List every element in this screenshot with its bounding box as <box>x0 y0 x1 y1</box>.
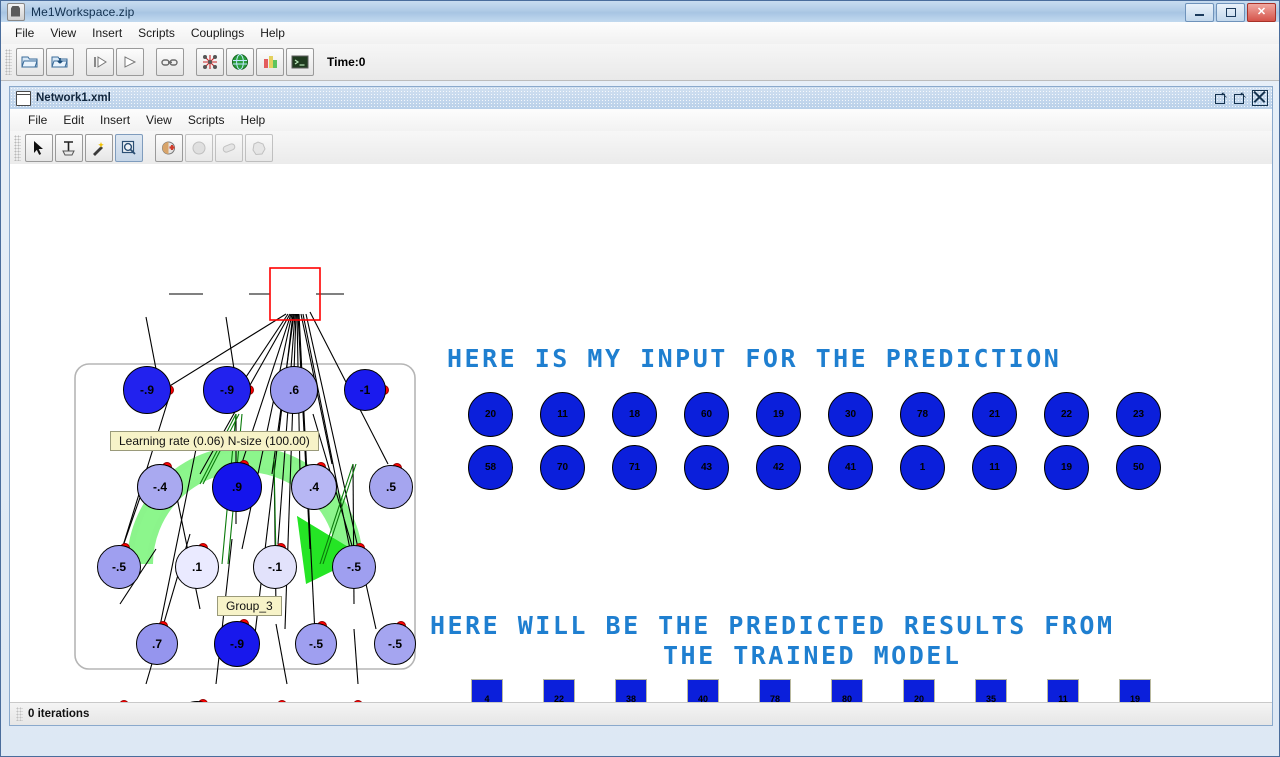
input-node-1[interactable]: 11 <box>540 392 585 437</box>
neuron-label: .7 <box>152 637 162 651</box>
neuron-label: -.9 <box>220 383 234 397</box>
selection-rectangle <box>270 268 320 320</box>
application-window: Me1Workspace.zip ✕ File View Insert Scri… <box>0 0 1280 757</box>
add-neuron-icon[interactable] <box>155 134 183 162</box>
input-node-3[interactable]: 60 <box>684 392 729 437</box>
input-row-2: 5870714342411111950 <box>468 445 1188 490</box>
neuron-layer4-1[interactable]: -.9 <box>214 621 260 667</box>
text-tool-icon[interactable] <box>55 134 83 162</box>
predicted-node-9[interactable]: 19 <box>1119 679 1151 703</box>
run-icon[interactable] <box>116 48 144 76</box>
inner-menu-item-help[interactable]: Help <box>233 111 274 129</box>
iterations-status: 0 iterations <box>28 708 89 720</box>
predicted-node-5[interactable]: 80 <box>831 679 863 703</box>
menu-item-scripts[interactable]: Scripts <box>130 24 183 42</box>
neuron-layer4-2[interactable]: -.5 <box>295 623 337 665</box>
predicted-node-8[interactable]: 11 <box>1047 679 1079 703</box>
network-icon[interactable] <box>196 48 224 76</box>
restore-button[interactable]: ↖ <box>1214 91 1228 105</box>
neuron-label: -.5 <box>388 637 402 651</box>
main-toolbar: Time:0 <box>1 44 1279 81</box>
document-window-icon <box>16 91 31 106</box>
input-heading: HERE IS MY INPUT FOR THE PREDICTION <box>447 344 1061 373</box>
inner-menu-item-insert[interactable]: Insert <box>92 111 138 129</box>
learning-rate-tooltip: Learning rate (0.06) N-size (100.00) <box>110 431 319 451</box>
group-tooltip: Group_3 <box>217 596 282 616</box>
input-node-b-3[interactable]: 43 <box>684 445 729 490</box>
inner-toolbar-grip[interactable] <box>14 135 21 161</box>
neuron-label: -.9 <box>140 383 154 397</box>
inner-menu-item-edit[interactable]: Edit <box>55 111 92 129</box>
predicted-node-4[interactable]: 78 <box>759 679 791 703</box>
internal-frame-title-bar[interactable]: Network1.xml ↖ ↖ <box>10 87 1272 110</box>
menu-item-couplings[interactable]: Couplings <box>183 24 252 42</box>
results-heading-line1: HERE WILL BE THE PREDICTED RESULTS FROM <box>430 611 1115 640</box>
toolbar-grip[interactable] <box>5 49 12 75</box>
neuron-top_row-3[interactable]: -1 <box>344 369 386 411</box>
neuron-top_row-0[interactable]: -.9 <box>123 366 171 414</box>
window-controls: ✕ <box>1185 3 1276 22</box>
save-workspace-icon[interactable] <box>46 48 74 76</box>
open-workspace-icon[interactable] <box>16 48 44 76</box>
input-row-1: 20111860193078212223 <box>468 392 1188 437</box>
input-node-7[interactable]: 21 <box>972 392 1017 437</box>
input-node-2[interactable]: 18 <box>612 392 657 437</box>
predicted-node-3[interactable]: 40 <box>687 679 719 703</box>
predicted-node-6[interactable]: 20 <box>903 679 935 703</box>
inner-menu-item-scripts[interactable]: Scripts <box>180 111 233 129</box>
input-node-4[interactable]: 19 <box>756 392 801 437</box>
neuron-label: -1 <box>360 383 371 397</box>
input-node-8[interactable]: 22 <box>1044 392 1089 437</box>
close-button[interactable]: ✕ <box>1247 3 1276 22</box>
neuron-layer3-0[interactable]: -.5 <box>97 545 141 589</box>
maximize-button[interactable] <box>1216 3 1245 22</box>
menu-item-help[interactable]: Help <box>252 24 293 42</box>
status-bar: 0 iterations <box>10 702 1272 725</box>
neuron-top_row-1[interactable]: -.9 <box>203 366 251 414</box>
neuron-label: -.5 <box>309 637 323 651</box>
neuron-layer2-1[interactable]: .9 <box>212 462 262 512</box>
select-arrow-icon[interactable] <box>25 134 53 162</box>
java-coffee-icon <box>7 3 25 21</box>
predicted-node-7[interactable]: 35 <box>975 679 1007 703</box>
neuron-layer3-2[interactable]: -.1 <box>253 545 297 589</box>
input-node-b-7[interactable]: 11 <box>972 445 1017 490</box>
couple-icon[interactable] <box>156 48 184 76</box>
bar-chart-icon[interactable] <box>256 48 284 76</box>
internal-frame-network1: Network1.xml ↖ ↖ File Edit Insert View S… <box>9 86 1273 726</box>
close-button-inner[interactable] <box>1252 90 1268 106</box>
predicted-row-1: 4223840788020351119 <box>471 679 1191 703</box>
status-grip <box>16 707 23 721</box>
neuron-label: .1 <box>192 560 202 574</box>
neuron-layer2-2[interactable]: .4 <box>291 464 337 510</box>
neuron-layer3-1[interactable]: .1 <box>175 545 219 589</box>
input-node-b-0[interactable]: 58 <box>468 445 513 490</box>
neuron-label: -.1 <box>268 560 282 574</box>
time-label: Time:0 <box>327 55 365 69</box>
input-node-b-6[interactable]: 1 <box>900 445 945 490</box>
input-node-9[interactable]: 23 <box>1116 392 1161 437</box>
internal-frame-controls: ↖ ↖ <box>1214 90 1268 106</box>
group-icon[interactable] <box>245 134 273 162</box>
input-node-0[interactable]: 20 <box>468 392 513 437</box>
maximize-button-inner[interactable]: ↖ <box>1233 91 1247 105</box>
input-node-6[interactable]: 78 <box>900 392 945 437</box>
internal-toolbar <box>10 131 1272 165</box>
synapse-icon[interactable] <box>215 134 243 162</box>
step-icon[interactable] <box>86 48 114 76</box>
network-canvas[interactable]: -.9-.9.6-1-.4.9.4.5-.5.1-.1-.5.7-.9-.5-.… <box>10 164 1272 703</box>
neuron-layer4-3[interactable]: -.5 <box>374 623 416 665</box>
menu-item-insert[interactable]: Insert <box>84 24 130 42</box>
internal-menu-bar: File Edit Insert View Scripts Help <box>10 109 1272 132</box>
input-node-5[interactable]: 30 <box>828 392 873 437</box>
neuron-icon[interactable] <box>185 134 213 162</box>
neuron-layer3-3[interactable]: -.5 <box>332 545 376 589</box>
predicted-node-0[interactable]: 4 <box>471 679 503 703</box>
predicted-node-1[interactable]: 22 <box>543 679 575 703</box>
results-heading-line2: THE TRAINED MODEL <box>663 641 961 670</box>
neuron-top_row-2[interactable]: .6 <box>270 366 318 414</box>
wand-tool-icon[interactable] <box>85 134 113 162</box>
neuron-label: .5 <box>386 480 396 494</box>
input-node-b-2[interactable]: 71 <box>612 445 657 490</box>
input-node-b-8[interactable]: 19 <box>1044 445 1089 490</box>
zoom-tool-icon[interactable] <box>115 134 143 162</box>
main-menu-bar: File View Insert Scripts Couplings Help <box>1 22 1279 45</box>
title-bar: Me1Workspace.zip ✕ <box>1 1 1279 23</box>
neuron-layer4-0[interactable]: .7 <box>136 623 178 665</box>
input-node-b-5[interactable]: 41 <box>828 445 873 490</box>
input-node-b-1[interactable]: 70 <box>540 445 585 490</box>
window-title: Me1Workspace.zip <box>31 5 134 19</box>
minimize-button[interactable] <box>1185 3 1214 22</box>
neuron-label: -.4 <box>153 480 167 494</box>
world-icon[interactable] <box>226 48 254 76</box>
input-node-b-4[interactable]: 42 <box>756 445 801 490</box>
neuron-label: -.5 <box>112 560 126 574</box>
neuron-layer2-0[interactable]: -.4 <box>137 464 183 510</box>
menu-item-view[interactable]: View <box>42 24 84 42</box>
neuron-label: -.9 <box>230 637 244 651</box>
neuron-label: .6 <box>289 383 299 397</box>
neuron-label: .4 <box>309 480 319 494</box>
neuron-layer2-3[interactable]: .5 <box>369 465 413 509</box>
input-node-b-9[interactable]: 50 <box>1116 445 1161 490</box>
menu-item-file[interactable]: File <box>7 24 42 42</box>
neuron-label: -.5 <box>347 560 361 574</box>
inner-menu-item-view[interactable]: View <box>138 111 180 129</box>
predicted-node-2[interactable]: 38 <box>615 679 647 703</box>
inner-menu-item-file[interactable]: File <box>20 111 55 129</box>
neuron-label: .9 <box>232 480 242 494</box>
console-icon[interactable] <box>286 48 314 76</box>
internal-frame-title: Network1.xml <box>36 92 111 104</box>
